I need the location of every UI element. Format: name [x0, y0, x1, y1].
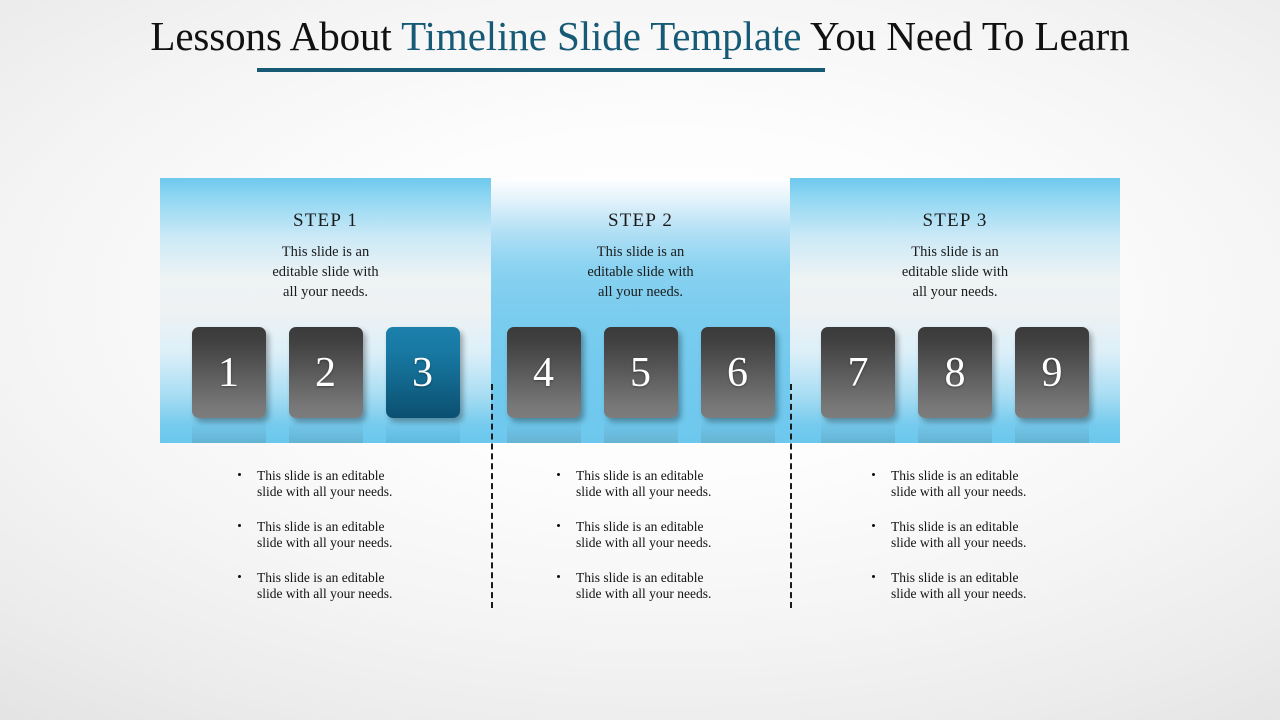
bullet-line: slide with all your needs. [891, 484, 1086, 500]
bullet-dot-icon [238, 575, 241, 578]
list-item: This slide is an editable slide with all… [866, 468, 1086, 500]
list-item: This slide is an editable slide with all… [551, 519, 771, 551]
bullet-line: slide with all your needs. [257, 484, 452, 500]
tile-wrapper: 3 [386, 327, 460, 418]
number-tiles-2: 4 5 6 [491, 327, 790, 418]
desc-line: This slide is an [491, 242, 790, 262]
bullet-line: This slide is an editable [257, 570, 452, 586]
step-panel-1[interactable]: STEP 1 This slide is an editable slide w… [160, 178, 491, 443]
number-tiles-3: 7 8 9 [790, 327, 1120, 418]
list-item: This slide is an editable slide with all… [551, 570, 771, 602]
title-trail-text: You Need To Learn [801, 13, 1129, 59]
step-description-3: This slide is an editable slide with all… [790, 242, 1120, 302]
bullet-line: slide with all your needs. [576, 586, 771, 602]
number-tile-9[interactable]: 9 [1015, 327, 1089, 418]
panel-header-1: STEP 1 This slide is an editable slide w… [160, 178, 491, 302]
desc-line: all your needs. [160, 282, 491, 302]
tile-wrapper: 8 [918, 327, 992, 418]
bullet-line: slide with all your needs. [576, 484, 771, 500]
step-description-1: This slide is an editable slide with all… [160, 242, 491, 302]
list-item: This slide is an editable slide with all… [866, 570, 1086, 602]
bullet-line: slide with all your needs. [576, 535, 771, 551]
bullet-dot-icon [557, 524, 560, 527]
list-item: This slide is an editable slide with all… [866, 519, 1086, 551]
tile-reflection [1015, 420, 1089, 443]
bullet-list-3: This slide is an editable slide with all… [866, 468, 1086, 602]
tile-wrapper: 7 [821, 327, 895, 418]
steps-panel-row: STEP 1 This slide is an editable slide w… [160, 178, 1120, 443]
tile-reflection [821, 420, 895, 443]
bullet-line: slide with all your needs. [257, 586, 452, 602]
bullet-dot-icon [238, 524, 241, 527]
number-tile-8[interactable]: 8 [918, 327, 992, 418]
number-tile-6[interactable]: 6 [701, 327, 775, 418]
number-tile-2[interactable]: 2 [289, 327, 363, 418]
bullet-line: This slide is an editable [257, 519, 452, 535]
tile-wrapper: 5 [604, 327, 678, 418]
bullet-line: slide with all your needs. [891, 586, 1086, 602]
tile-reflection [289, 420, 363, 443]
desc-line: editable slide with [160, 262, 491, 282]
title-underline [257, 68, 825, 72]
bullet-line: This slide is an editable [891, 519, 1086, 535]
bullet-line: This slide is an editable [891, 468, 1086, 484]
column-divider-2 [790, 384, 792, 608]
desc-line: all your needs. [491, 282, 790, 302]
bullet-dot-icon [872, 473, 875, 476]
desc-line: editable slide with [790, 262, 1120, 282]
bullet-line: This slide is an editable [576, 519, 771, 535]
bullet-line: This slide is an editable [257, 468, 452, 484]
step-panel-2[interactable]: STEP 2 This slide is an editable slide w… [491, 178, 790, 443]
number-tile-4[interactable]: 4 [507, 327, 581, 418]
column-divider-1 [491, 384, 493, 608]
number-tile-7[interactable]: 7 [821, 327, 895, 418]
tile-wrapper: 6 [701, 327, 775, 418]
bullet-dot-icon [557, 575, 560, 578]
number-tile-5[interactable]: 5 [604, 327, 678, 418]
tile-wrapper: 2 [289, 327, 363, 418]
bullet-dot-icon [872, 575, 875, 578]
page-title: Lessons About Timeline Slide Template Yo… [0, 14, 1280, 59]
panel-header-2: STEP 2 This slide is an editable slide w… [491, 178, 790, 302]
tile-wrapper: 1 [192, 327, 266, 418]
list-item: This slide is an editable slide with all… [232, 570, 452, 602]
tile-reflection [918, 420, 992, 443]
tile-reflection [507, 420, 581, 443]
bullet-dot-icon [238, 473, 241, 476]
step-label-1: STEP 1 [160, 210, 491, 232]
step-description-2: This slide is an editable slide with all… [491, 242, 790, 302]
bullet-line: This slide is an editable [891, 570, 1086, 586]
desc-line: editable slide with [491, 262, 790, 282]
bullet-dot-icon [872, 524, 875, 527]
bullet-line: This slide is an editable [576, 468, 771, 484]
bullet-line: This slide is an editable [576, 570, 771, 586]
desc-line: all your needs. [790, 282, 1120, 302]
desc-line: This slide is an [790, 242, 1120, 262]
tile-reflection [604, 420, 678, 443]
tile-reflection [192, 420, 266, 443]
step-label-2: STEP 2 [491, 210, 790, 232]
list-item: This slide is an editable slide with all… [551, 468, 771, 500]
panel-header-3: STEP 3 This slide is an editable slide w… [790, 178, 1120, 302]
tile-reflection [701, 420, 775, 443]
bullet-list-1: This slide is an editable slide with all… [232, 468, 452, 602]
bullet-list-2: This slide is an editable slide with all… [551, 468, 771, 602]
desc-line: This slide is an [160, 242, 491, 262]
title-lead-text: Lessons About [150, 13, 401, 59]
tile-reflection [386, 420, 460, 443]
step-panel-3[interactable]: STEP 3 This slide is an editable slide w… [790, 178, 1120, 443]
list-item: This slide is an editable slide with all… [232, 519, 452, 551]
bullet-dot-icon [557, 473, 560, 476]
bullet-line: slide with all your needs. [257, 535, 452, 551]
title-accent-text: Timeline Slide Template [401, 13, 801, 59]
bullet-line: slide with all your needs. [891, 535, 1086, 551]
number-tile-3[interactable]: 3 [386, 327, 460, 418]
tile-wrapper: 9 [1015, 327, 1089, 418]
tile-wrapper: 4 [507, 327, 581, 418]
step-label-3: STEP 3 [790, 210, 1120, 232]
list-item: This slide is an editable slide with all… [232, 468, 452, 500]
number-tiles-1: 1 2 3 [160, 327, 491, 418]
number-tile-1[interactable]: 1 [192, 327, 266, 418]
